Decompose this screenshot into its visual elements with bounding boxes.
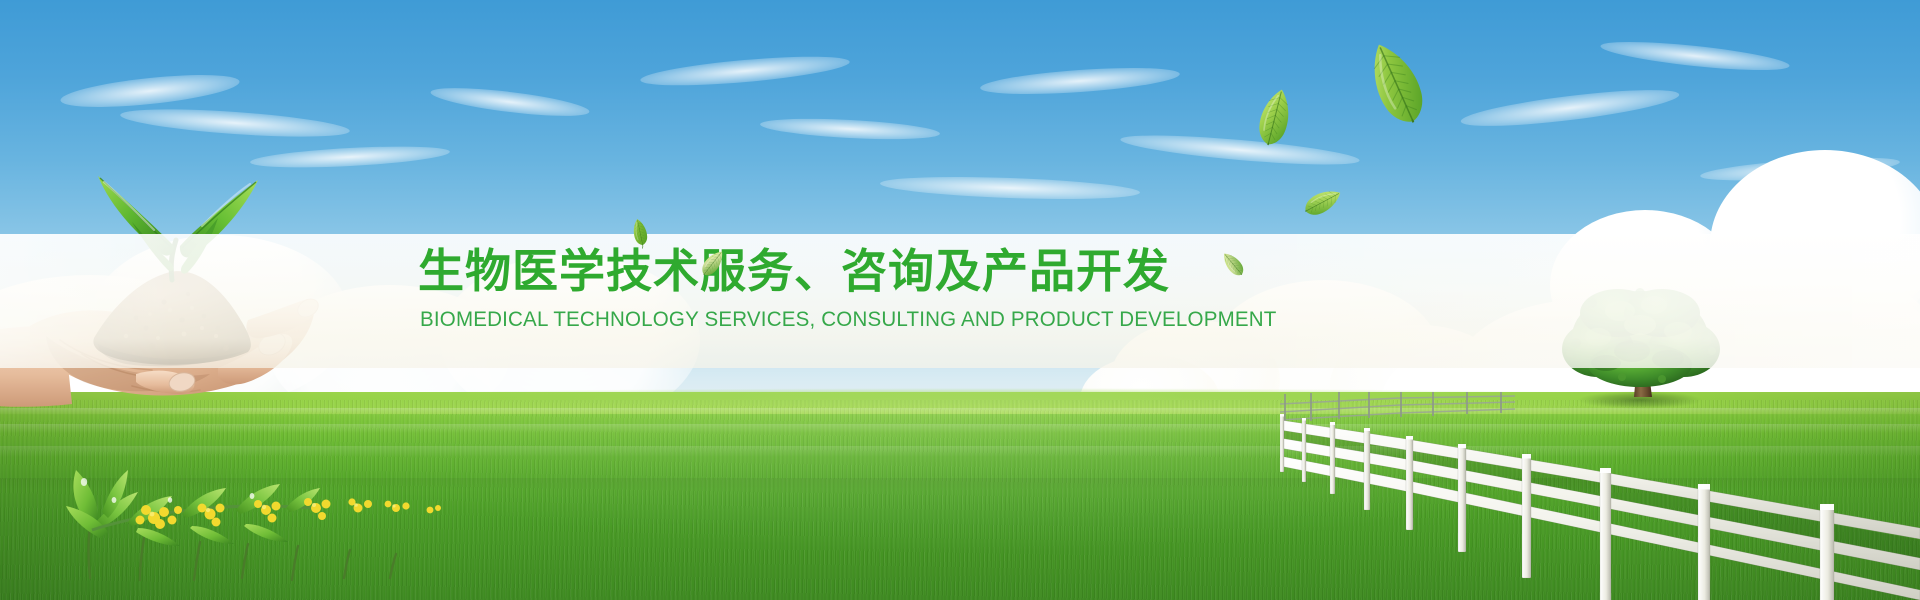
flowers-icon [44, 452, 464, 582]
yellow-flowers [136, 498, 442, 529]
fence-icon [1280, 392, 1920, 600]
promo-banner: 生物医学技术服务、咨询及产品开发 BIOMEDICAL TECHNOLOGY S… [0, 0, 1920, 600]
headline-block: 生物医学技术服务、咨询及产品开发 BIOMEDICAL TECHNOLOGY S… [418, 248, 1498, 331]
flower-cluster [44, 452, 464, 582]
page-title: 生物医学技术服务、咨询及产品开发 [418, 248, 1498, 296]
page-subtitle: BIOMEDICAL TECHNOLOGY SERVICES, CONSULTI… [420, 308, 1449, 332]
rail-fence [1280, 392, 1920, 600]
